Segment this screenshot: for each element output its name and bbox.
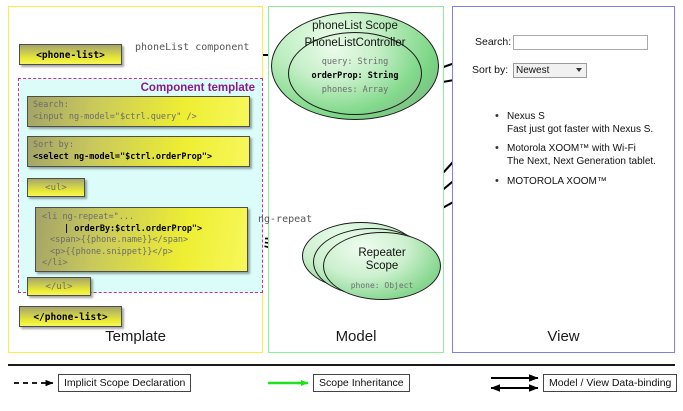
panel-label-template: Template xyxy=(8,328,263,345)
edge-label-ng-repeat: ng-repeat xyxy=(258,214,312,225)
legend-divider xyxy=(8,364,675,366)
template-li-line5: </li> xyxy=(42,258,241,270)
controller-prop-phones: phones: Array xyxy=(289,85,421,95)
legend-item-implicit-scope-declaration: Implicit Scope Declaration xyxy=(58,374,191,392)
template-sort-code-box: Sort by: <select ng-model="$ctrl.orderPr… xyxy=(27,136,250,167)
template-search-label-line: Search: xyxy=(33,100,244,112)
panel-label-view: View xyxy=(452,328,675,345)
phone-list-open-tag-label: <phone-list> xyxy=(20,50,121,62)
template-search-code-box: Search: <input ng-model="$ctrl.query" /> xyxy=(27,96,250,127)
view-search-label: Search: xyxy=(475,36,511,48)
component-template-title: Component template xyxy=(141,82,255,94)
template-sort-label-line: Sort by: xyxy=(33,140,244,152)
edge-label-phonelist-component: phoneList component xyxy=(135,42,249,53)
phonelist-controller-label: PhoneListController xyxy=(289,37,421,49)
legend-item-model-view-data-binding: Model / View Data-binding xyxy=(543,374,677,392)
sort-by-selected-value: Newest xyxy=(516,65,549,76)
phonelist-scope-label: phoneList Scope xyxy=(272,20,438,32)
list-item-name: Motorola XOOM™ with Wi-Fi xyxy=(507,143,636,156)
list-bullet: • xyxy=(495,175,499,187)
repeater-scope-ellipse: Repeater Scope phone: Object xyxy=(323,232,441,300)
phone-list-close-tag-label: </phone-list> xyxy=(20,312,121,324)
list-item-snippet: The Next, Next Generation tablet. xyxy=(507,156,656,169)
sort-by-select[interactable]: Newest xyxy=(513,63,587,78)
chevron-down-icon xyxy=(576,68,582,72)
template-li-line2: | orderBy:$ctrl.orderProp"> xyxy=(42,224,241,236)
template-ul-close-box: </ul> xyxy=(27,277,91,296)
panel-label-model: Model xyxy=(268,328,444,345)
legend-item-scope-inheritance: Scope Inheritance xyxy=(313,374,410,392)
phone-list-close-tag-box: </phone-list> xyxy=(19,306,122,327)
list-bullet: • xyxy=(495,142,499,154)
template-li-code-box: <li ng-repeat="... | orderBy:$ctrl.order… xyxy=(35,207,248,272)
list-item-name: MOTOROLA XOOM™ xyxy=(507,176,607,189)
template-li-line1: <li ng-repeat="... xyxy=(42,212,241,224)
template-sort-code-line: <select ng-model="$ctrl.orderProp"> xyxy=(33,152,244,164)
template-li-line4: <p>{{phone.snippet}}</p> xyxy=(42,247,241,259)
diagram-canvas: Template Model View <phone-list> phoneLi… xyxy=(0,0,683,411)
controller-prop-orderprop: orderProp: String xyxy=(289,71,421,81)
phone-list-open-tag-box: <phone-list> xyxy=(19,44,122,65)
phonelist-controller-ellipse: PhoneListController query: String orderP… xyxy=(288,32,422,115)
template-ul-close-label: </ul> xyxy=(28,282,90,294)
list-bullet: • xyxy=(495,110,499,122)
template-ul-open-label: <ul> xyxy=(28,183,84,195)
list-item-snippet: Fast just got faster with Nexus S. xyxy=(507,124,653,137)
search-input[interactable] xyxy=(513,35,648,50)
view-sort-label: Sort by: xyxy=(472,64,508,76)
repeater-scope-prop: phone: Object xyxy=(324,281,440,290)
repeater-scope-label: Repeater Scope xyxy=(324,247,440,273)
template-ul-open-box: <ul> xyxy=(27,178,85,197)
controller-prop-query: query: String xyxy=(289,57,421,67)
list-item-name: Nexus S xyxy=(507,111,545,124)
template-li-line3: <span>{{phone.name}}</span> xyxy=(42,235,241,247)
template-search-code-line: <input ng-model="$ctrl.query" /> xyxy=(33,112,244,124)
